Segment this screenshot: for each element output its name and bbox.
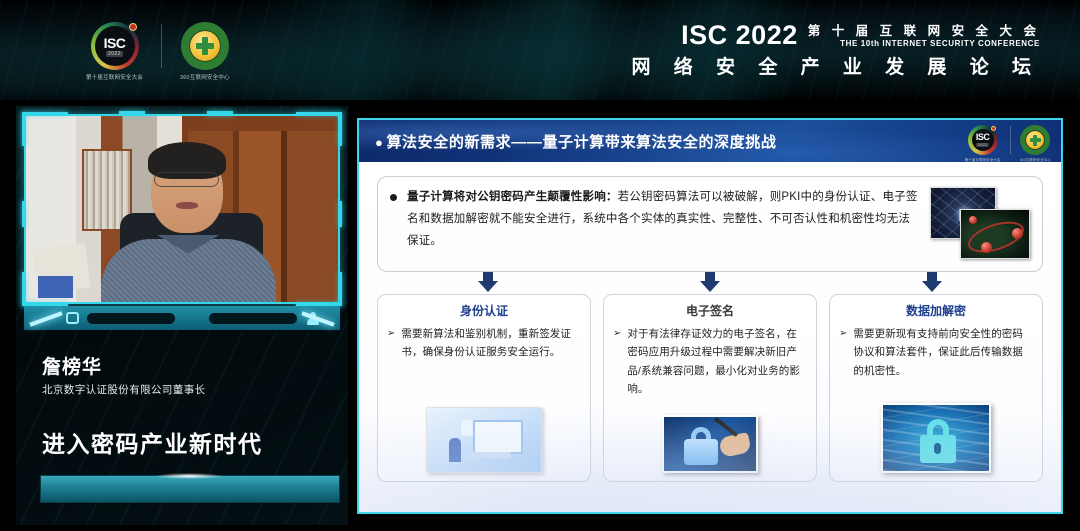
logo-divider (161, 24, 162, 68)
slide-isc-logo: ISC 2022 第十届互联网安全大会 (965, 125, 1001, 162)
frame-bracket-icon (119, 111, 145, 115)
isc-badge-dot-icon (129, 23, 137, 31)
360-logo-caption: 360互联网安全中心 (180, 73, 230, 81)
presentation-slide[interactable]: ●算法安全的新需求——量子计算带来算法安全的深度挑战 ISC 2022 第十届互… (357, 118, 1063, 514)
lead-text: 量子计算将对公钥密码产生颠覆性影响：若公钥密码算法可以被破解，则PKI中的身份认… (407, 187, 920, 259)
isc-logo-year: 2022 (106, 51, 123, 57)
video-control-strip[interactable] (24, 306, 340, 330)
frame-bracket-icon (22, 272, 25, 306)
isc-logo-year: 2022 (976, 143, 990, 147)
card-title: 电子签名 (613, 302, 807, 319)
event-header: ISC 2022 第十届互联网安全大会 360互联网安全中心 ISC 2022 (0, 0, 1080, 100)
isc-badge-icon: ISC 2022 (91, 22, 139, 70)
header-title-block: ISC 2022 第 十 届 互 联 网 安 全 大 会 THE 10th IN… (631, 22, 1040, 77)
slide-body: 量子计算将对公钥密码产生颠覆性影响：若公钥密码算法可以被破解，则PKI中的身份认… (359, 162, 1061, 514)
atom-orbit-image (960, 209, 1030, 259)
signature-lock-image (662, 415, 758, 473)
participant-icon[interactable] (307, 312, 319, 325)
control-slot[interactable] (87, 313, 175, 324)
wreath-shield-icon (181, 22, 229, 70)
event-brand: ISC 2022 (681, 22, 798, 49)
isc-logo: ISC 2022 第十届互联网安全大会 (86, 22, 143, 81)
card-title: 身份认证 (387, 302, 581, 319)
slide-title-bullet-icon: ● (375, 135, 383, 150)
speaker-panel: 詹榜华 北京数字认证股份有限公司董事长 进入密码产业新时代 (16, 106, 348, 525)
speaker-video[interactable] (24, 114, 340, 304)
speaker-org: 北京数字认证股份有限公司董事长 (42, 382, 342, 397)
arrow-bullet-icon: ➢ (839, 325, 847, 380)
forum-title: 网 络 安 全 产 业 发 展 论 坛 (631, 58, 1040, 77)
screen-share-icon[interactable] (66, 312, 79, 324)
frame-bracket-icon (339, 201, 342, 227)
slide-title: ●算法安全的新需求——量子计算带来算法安全的深度挑战 (375, 131, 776, 152)
card-electronic-signature: 电子签名 ➢ 对于有法律存证效力的电子签名，在密码应用升级过程中需要解决新旧产品… (603, 294, 817, 482)
panel-accent-bar (40, 475, 340, 503)
screen: ISC 2022 第十届互联网安全大会 360互联网安全中心 ISC 2022 (0, 0, 1080, 531)
identity-illustration-image (426, 407, 542, 473)
frame-bracket-icon (296, 112, 342, 115)
frame-bracket-icon (22, 112, 25, 146)
conference-name-cn: 第 十 届 互 联 网 安 全 大 会 (808, 24, 1040, 38)
card-identity-authentication: 身份认证 ➢ 需要新算法和鉴别机制，重新签发证书，确保身份认证服务安全运行。 (377, 294, 591, 482)
slide-360-logo: 360互联网安全中心 (1020, 125, 1051, 162)
slide-title-bar: ●算法安全的新需求——量子计算带来算法安全的深度挑战 ISC 2022 第十届互… (359, 120, 1061, 162)
isc-logo-mark: ISC (976, 133, 990, 142)
slide-logos: ISC 2022 第十届互联网安全大会 360互联网安全中心 (965, 125, 1051, 162)
slide-title-text: 算法安全的新需求——量子计算带来算法安全的深度挑战 (386, 134, 776, 151)
lead-images (930, 187, 1030, 259)
isc-badge-dot-icon (991, 126, 996, 131)
isc-logo-caption: 第十届互联网安全大会 (86, 73, 143, 81)
encryption-lock-image (881, 403, 991, 473)
bullet-icon (390, 194, 397, 201)
frame-bracket-icon (339, 112, 342, 146)
card-text: 需要更新现有支持前向安全性的密码协议和算法套件，保证此后传输数据的机密性。 (853, 325, 1033, 380)
speaker-topic: 进入密码产业新时代 (42, 425, 342, 459)
card-image (426, 407, 542, 473)
header-logos: ISC 2022 第十届互联网安全大会 360互联网安全中心 (86, 22, 230, 81)
card-text: 需要新算法和鉴别机制，重新签发证书，确保身份认证服务安全运行。 (401, 325, 581, 362)
wreath-shield-icon (1020, 125, 1050, 155)
isc-logo-mark: ISC (104, 36, 126, 50)
conference-name-en: THE 10th INTERNET SECURITY CONFERENCE (808, 39, 1040, 49)
lead-label: 量子计算将对公钥密码产生颠覆性影响： (407, 191, 618, 203)
logo-divider (1010, 126, 1011, 154)
frame-bracket-icon (22, 112, 68, 115)
impact-cards: 身份认证 ➢ 需要新算法和鉴别机制，重新签发证书，确保身份认证服务安全运行。 电… (377, 294, 1043, 482)
speaker-info: 詹榜华 北京数字认证股份有限公司董事长 进入密码产业新时代 (42, 352, 342, 459)
arrow-bullet-icon: ➢ (613, 325, 621, 399)
card-title: 数据加解密 (839, 302, 1033, 319)
frame-bracket-icon (207, 111, 233, 115)
video-frame (24, 114, 340, 304)
card-text: 对于有法律存证效力的电子签名，在密码应用升级过程中需要解决新旧产品/系统兼容问题… (627, 325, 807, 399)
lead-statement: 量子计算将对公钥密码产生颠覆性影响：若公钥密码算法可以被破解，则PKI中的身份认… (377, 176, 1043, 272)
card-image (881, 403, 991, 473)
arrow-bullet-icon: ➢ (387, 325, 395, 362)
frame-bracket-icon (339, 272, 342, 306)
isc-badge-icon: ISC 2022 (968, 125, 998, 155)
card-data-encryption: 数据加解密 ➢ 需要更新现有支持前向安全性的密码协议和算法套件，保证此后传输数据… (829, 294, 1043, 482)
card-image (662, 415, 758, 473)
speaker-name: 詹榜华 (42, 352, 342, 379)
360-logo: 360互联网安全中心 (180, 22, 230, 81)
frame-bracket-icon (22, 201, 25, 227)
control-slot[interactable] (209, 313, 297, 324)
